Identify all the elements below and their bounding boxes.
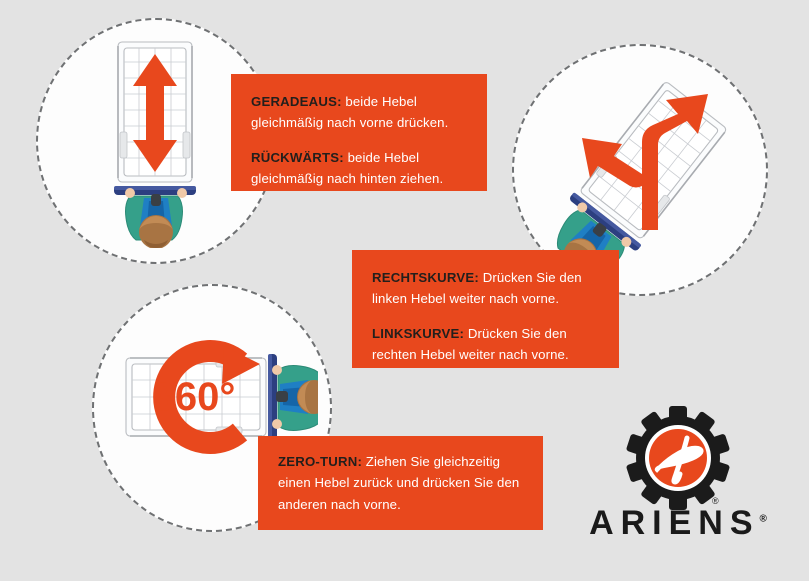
operator-figure: [272, 365, 318, 431]
wordmark-registered-mark: ®: [760, 514, 767, 525]
callout-zero-turn: ZERO-TURN: Ziehen Sie gleichzeitig einen…: [258, 436, 543, 530]
mower-top-view-straight-svg: [104, 36, 208, 248]
callout-line: LINKSKURVE: Drücken Sie den rechten Hebe…: [372, 323, 599, 366]
callout-label: LINKSKURVE:: [372, 326, 464, 341]
callout-line: ZERO-TURN: Ziehen Sie gleichzeitig einen…: [278, 451, 523, 515]
wordmark-text: ARIENS: [589, 504, 759, 542]
callout-label: GERADEAUS:: [251, 94, 342, 109]
callout-right-and-left-turn: RECHTSKURVE: Drücken Sie den linken Hebe…: [352, 250, 619, 368]
ariens-logo: ® ARIENS®: [588, 404, 768, 544]
callout-line: RECHTSKURVE: Drücken Sie den linken Hebe…: [372, 267, 599, 310]
callout-straight-and-reverse: GERADEAUS: beide Hebel gleichmäßig nach …: [231, 74, 487, 191]
ariens-wordmark: ARIENS®: [588, 504, 768, 543]
straight-forward-reverse-illustration: [104, 36, 208, 253]
callout-label: ZERO-TURN:: [278, 454, 362, 469]
callout-label: RÜCKWÄRTS:: [251, 150, 344, 165]
infographic-canvas: GERADEAUS: beide Hebel gleichmäßig nach …: [0, 0, 809, 581]
rotation-degrees-label: 360°: [153, 375, 236, 419]
callout-line: RÜCKWÄRTS: beide Hebel gleichmäßig nach …: [251, 147, 467, 190]
operator-figure: [125, 188, 187, 248]
callout-line: GERADEAUS: beide Hebel gleichmäßig nach …: [251, 91, 467, 134]
callout-label: RECHTSKURVE:: [372, 270, 479, 285]
ariens-gear-icon: ®: [624, 404, 732, 512]
